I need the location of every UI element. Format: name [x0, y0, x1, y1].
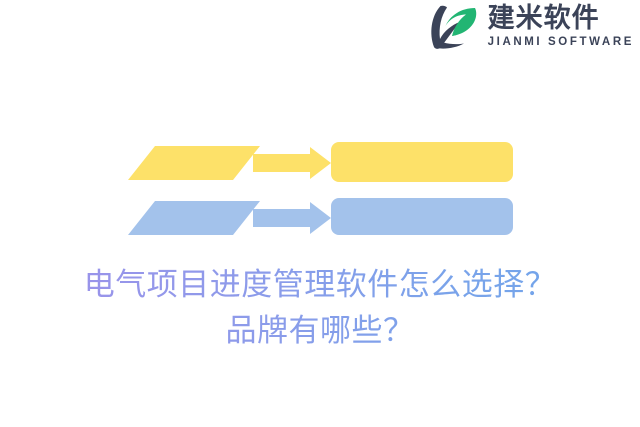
- brand-text-block: 建米软件 JIANMI SOFTWARE: [488, 5, 634, 49]
- brand-name-cn: 建米软件: [488, 5, 600, 32]
- page-title: 电气项目进度管理软件怎么选择？ 品牌有哪些？: [0, 262, 640, 354]
- process-flow-diagram: [0, 130, 640, 245]
- page-title-line-2: 品牌有哪些？: [0, 308, 640, 354]
- brand-logo: 建米软件 JIANMI SOFTWARE: [428, 4, 634, 50]
- jianmi-leaf-swoosh-logo-icon: [428, 4, 480, 50]
- diagram-row-blue: [128, 198, 513, 235]
- diagram-row-yellow: [128, 142, 513, 182]
- parallelogram-yellow: [128, 146, 260, 180]
- brand-name-en: JIANMI SOFTWARE: [488, 37, 634, 49]
- page-title-line-1: 电气项目进度管理软件怎么选择？: [0, 262, 640, 308]
- parallelogram-blue: [128, 201, 260, 235]
- rounded-bar-blue: [331, 198, 513, 235]
- arrow-yellow: [253, 147, 331, 179]
- arrow-blue: [253, 202, 331, 234]
- rounded-bar-yellow: [331, 142, 513, 182]
